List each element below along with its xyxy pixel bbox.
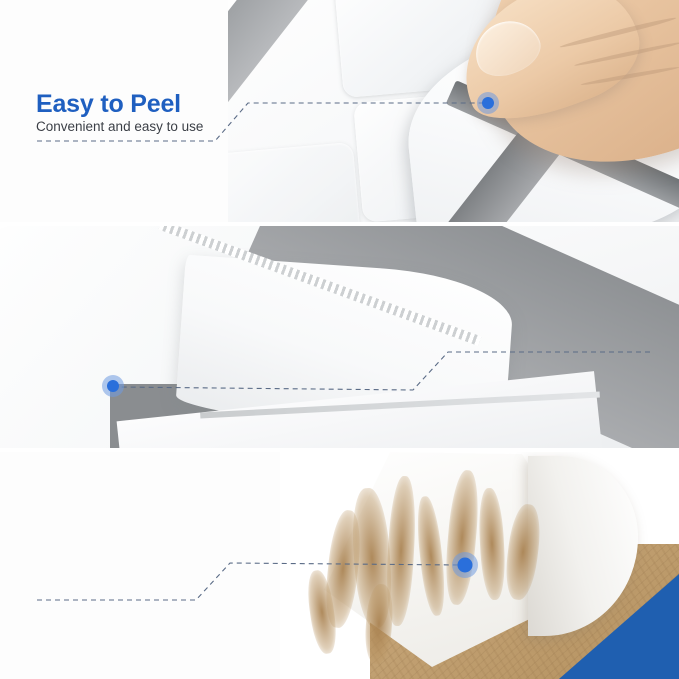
photo-easy-to-tear-off [0,226,679,448]
panel-divider [0,222,679,226]
blue-corner-accent [559,574,679,679]
feature-panel-strong-adhesive: Strong Adhesive Strong stickiness and no… [0,452,679,679]
panel-1-headline: Easy to Peel [36,90,203,118]
label-tile [228,142,363,222]
panel-divider [0,448,679,452]
photo-strong-adhesive [280,452,679,679]
feature-panel-easy-to-tear-off: Easy to Tear Off Tear line facilitates t… [0,226,679,448]
product-feature-infographic: Easy to Peel Convenient and easy to use … [0,0,679,679]
photo-easy-to-peel [228,0,679,222]
panel-1-subtext: Convenient and easy to use [36,118,203,136]
panel-1-text-block: Easy to Peel Convenient and easy to use [36,90,203,136]
feature-panel-easy-to-peel: Easy to Peel Convenient and easy to use [0,0,679,222]
